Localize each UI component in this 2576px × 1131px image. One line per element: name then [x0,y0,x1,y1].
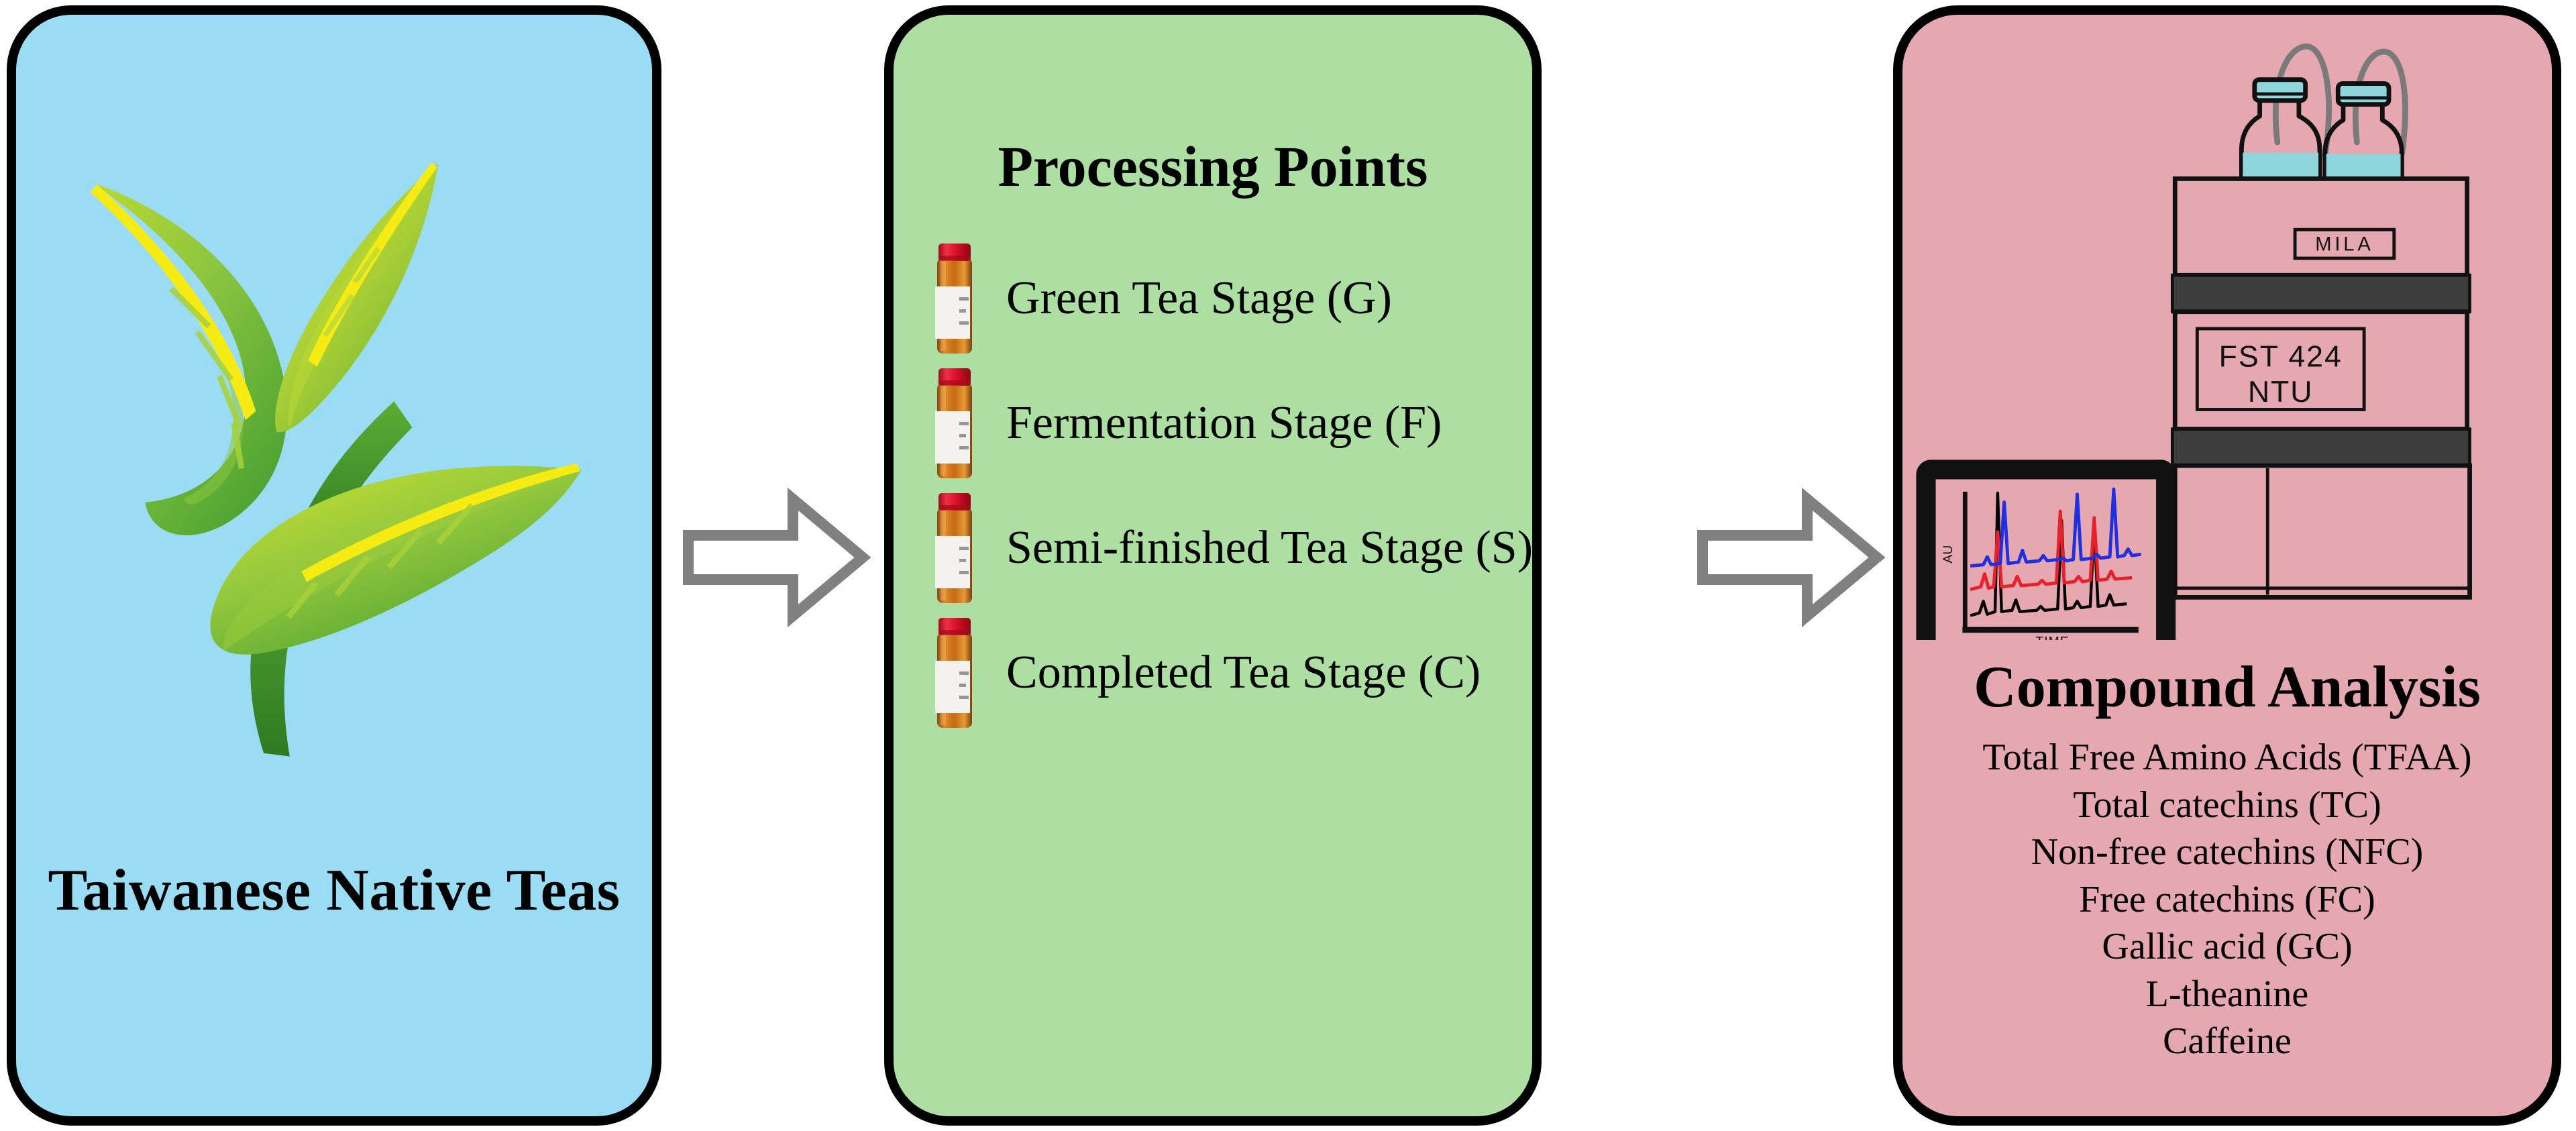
figure-canvas: Taiwanese Native Teas Processing Points [0,0,2576,1131]
arrow-process-to-analysis [1685,474,1893,641]
detector-module: FST 424 NTU [2175,312,2467,429]
page-title-compound-analysis: Compound Analysis [1902,653,2552,721]
hplc-system-icon: MILA FST 424 NTU [1902,16,2552,640]
panel-compound-analysis: MILA FST 424 NTU [1893,5,2561,1126]
list-item: Total catechins (TC) [1902,782,2552,829]
list-item: Semi-finished Tea Stage (S) [932,486,1519,610]
instrument-band-upper [2172,275,2469,311]
sample-vial-icon [932,616,977,729]
chromatogram-y-label: AU [1941,545,1955,563]
sample-vial-icon [932,242,977,355]
list-item: Caffeine [1902,1018,2552,1065]
panel-processing-points: Processing Points [884,5,1542,1126]
module-label-line2: NTU [2248,376,2314,409]
list-item: Completed Tea Stage (C) [932,610,1519,735]
sample-vial-icon [932,367,977,480]
pump-label: MILA [2315,233,2373,255]
chromatogram-monitor-icon: AU TIME [1926,470,2166,640]
module-label-line1: FST 424 [2219,340,2343,373]
instrument-band-lower [2172,429,2469,466]
compound-list: Total Free Amino Acids (TFAA) Total cate… [1902,734,2552,1065]
page-title-processing-points: Processing Points [894,133,1532,200]
arrow-leaves-to-process [671,474,879,641]
stage-label: Fermentation Stage (F) [1006,400,1442,447]
page-title-taiwanese-native-teas: Taiwanese Native Teas [16,857,652,924]
list-item: Non-free catechins (NFC) [1902,828,2552,876]
column-oven-cabinet [2175,466,2469,597]
tea-leaves-icon [16,35,652,826]
list-item: Green Tea Stage (G) [932,236,1519,361]
solvent-bottle-left-icon [2241,80,2320,179]
stage-label: Completed Tea Stage (C) [1006,649,1481,696]
list-item: Gallic acid (GC) [1902,923,2552,971]
chromatogram-x-label: TIME [2035,634,2069,640]
stage-label: Semi-finished Tea Stage (S) [1006,525,1533,572]
panel-taiwanese-native-teas: Taiwanese Native Teas [7,5,661,1126]
solvent-bottle-right-icon [2325,84,2402,179]
list-item: Total Free Amino Acids (TFAA) [1902,734,2552,782]
list-item: Free catechins (FC) [1902,876,2552,924]
sample-vial-icon [932,492,977,604]
list-item: Fermentation Stage (F) [932,361,1519,486]
list-item: L-theanine [1902,971,2552,1018]
stage-label: Green Tea Stage (G) [1006,275,1392,322]
processing-stage-list: Green Tea Stage (G) Fermentation Stage (… [932,236,1519,735]
pump-module: MILA [2175,178,2467,275]
